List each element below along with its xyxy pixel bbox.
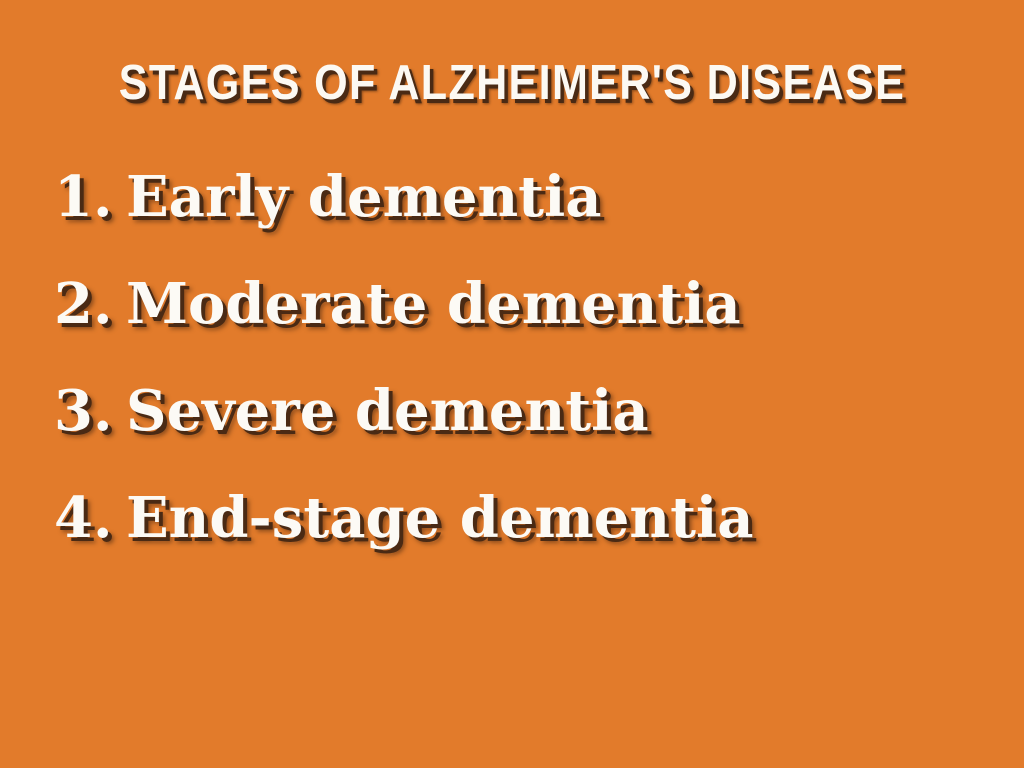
list-item-label: Severe dementia bbox=[126, 380, 649, 442]
list-item-number: 2. bbox=[54, 273, 126, 335]
list-item-label: Moderate dementia bbox=[126, 273, 741, 335]
list-item-label: Early dementia bbox=[126, 166, 602, 228]
presentation-slide: Stages of Alzheimer's Disease 1. Early d… bbox=[0, 0, 1024, 768]
list-item: 3. Severe dementia bbox=[54, 380, 974, 487]
list-item-number: 3. bbox=[54, 380, 126, 442]
list-item: 1. Early dementia bbox=[54, 166, 974, 273]
list-item-label: End-stage dementia bbox=[126, 487, 754, 549]
stage-list: 1. Early dementia 2. Moderate dementia 3… bbox=[54, 166, 974, 594]
list-item-number: 1. bbox=[54, 166, 126, 228]
list-item-number: 4. bbox=[54, 487, 126, 549]
page-title: Stages of Alzheimer's Disease bbox=[61, 55, 962, 111]
list-item: 4. End-stage dementia bbox=[54, 487, 974, 594]
list-item: 2. Moderate dementia bbox=[54, 273, 974, 380]
